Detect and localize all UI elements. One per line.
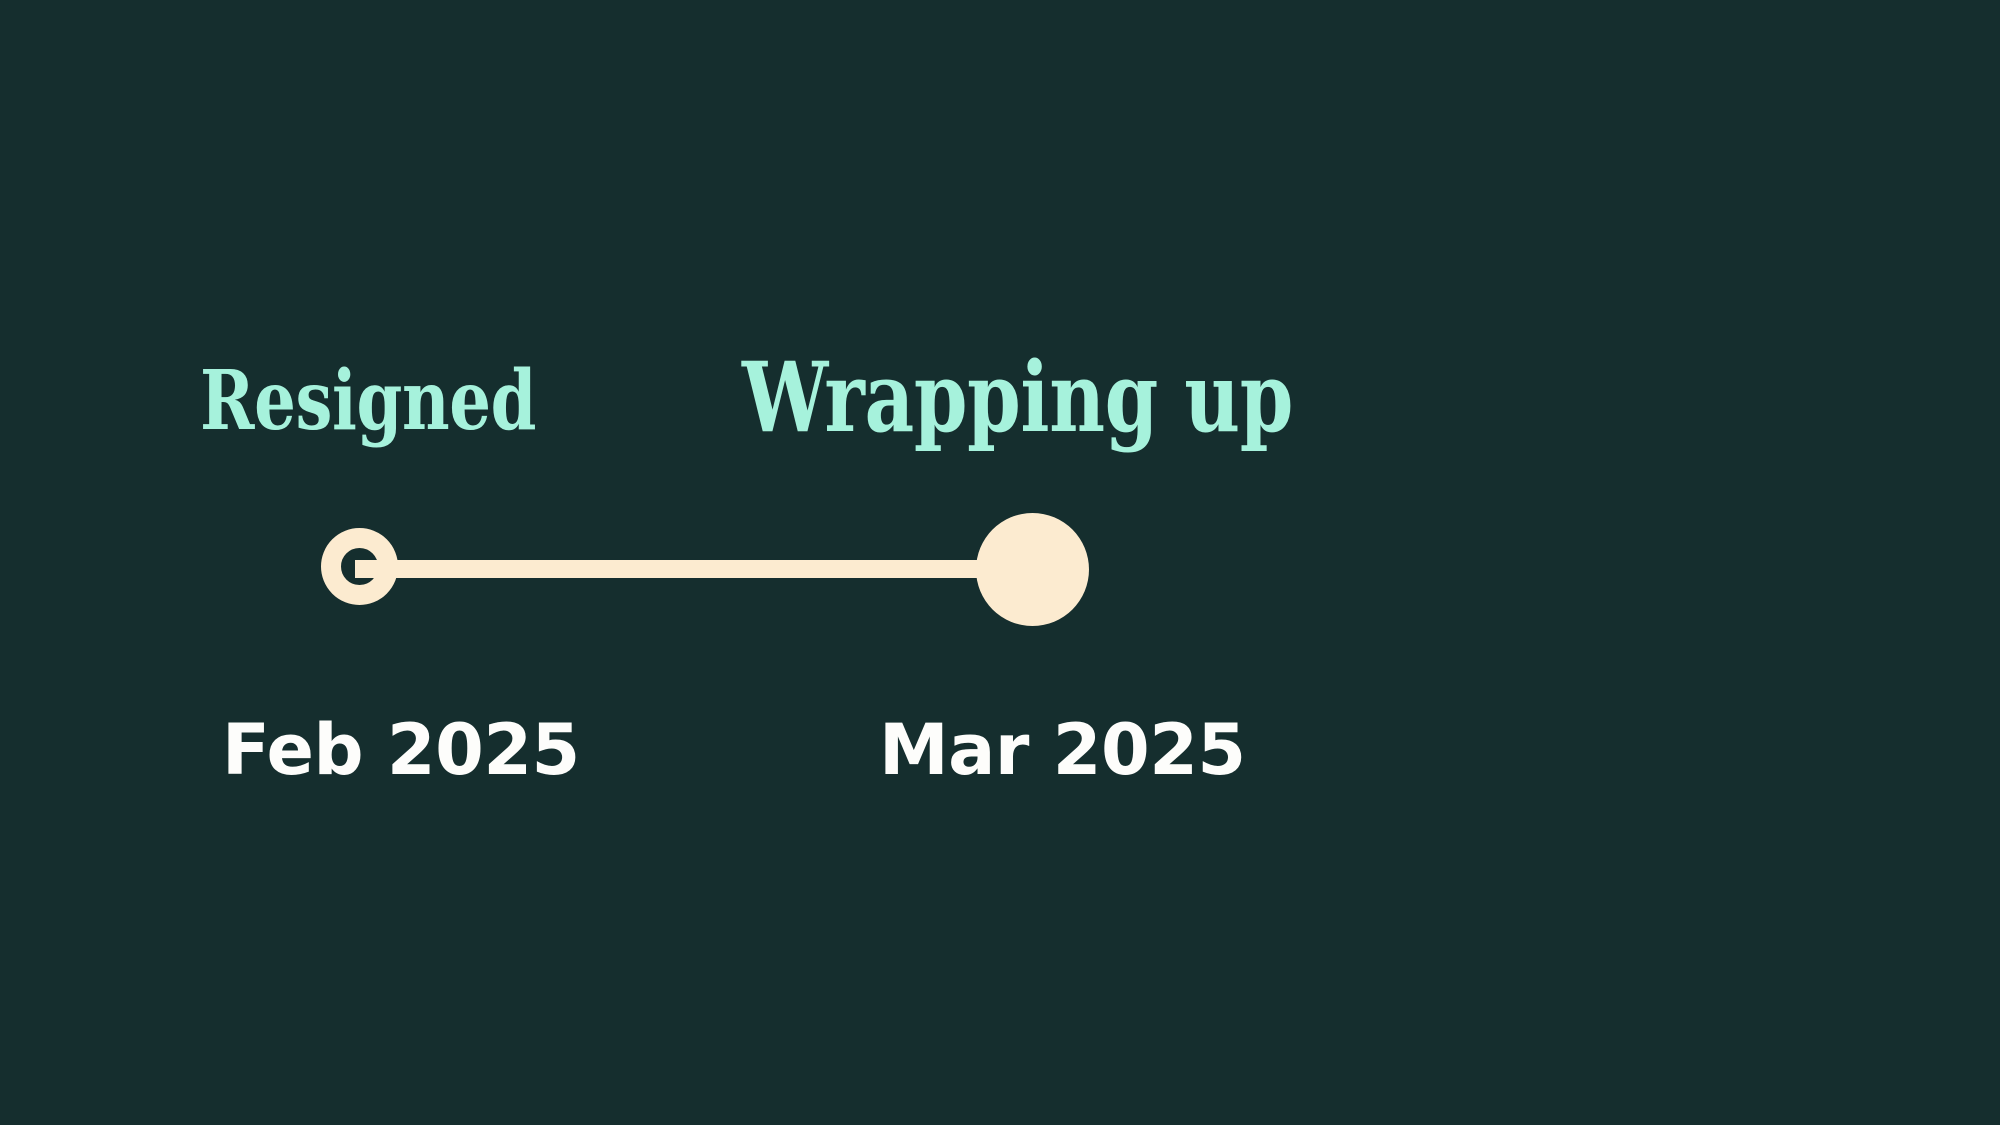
timeline-marker-hollow-icon[interactable] xyxy=(321,528,398,605)
timeline-canvas: Resigned Feb 2025 Wrapping up Mar 2025 xyxy=(0,0,2000,1125)
event-date-feb-2025: Feb 2025 xyxy=(222,715,580,785)
event-title-resigned: Resigned xyxy=(200,360,536,442)
event-title-wrapping-up: Wrapping up xyxy=(742,350,1293,446)
timeline-axis-line xyxy=(355,560,1035,578)
timeline-marker-filled-icon[interactable] xyxy=(976,513,1089,626)
event-date-mar-2025: Mar 2025 xyxy=(879,715,1246,785)
